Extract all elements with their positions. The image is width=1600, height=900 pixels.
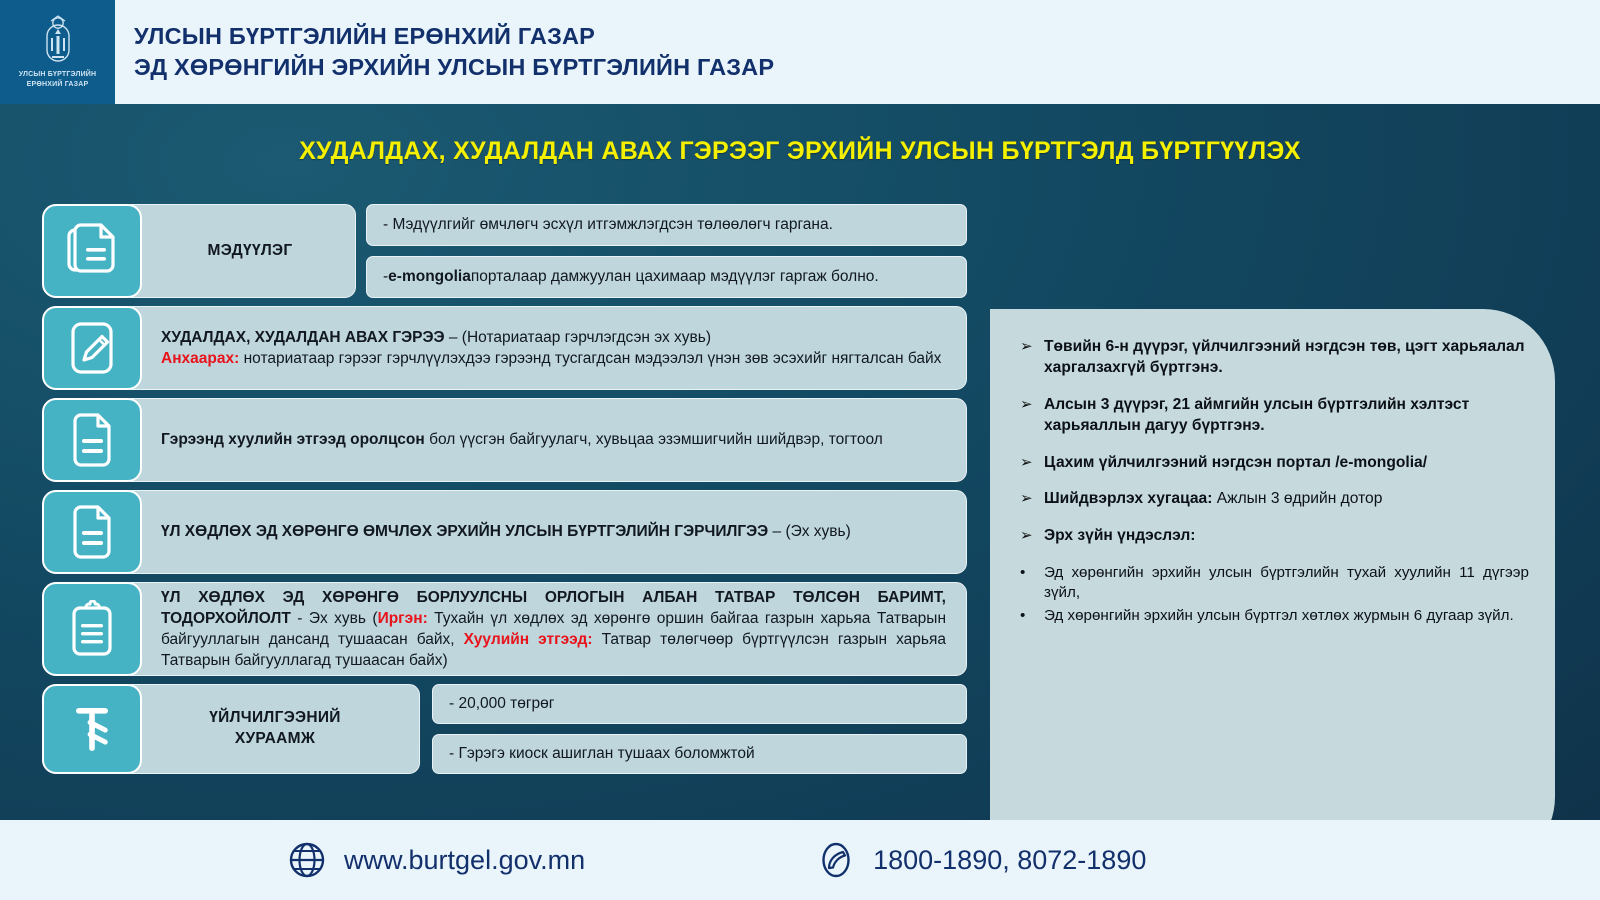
tax-panel: ҮЛ ХӨДЛӨХ ЭД ХӨРӨНГӨ БОРЛУУЛСНЫ ОРЛОГЫН … [130, 582, 967, 676]
certificate-panel: ҮЛ ХӨДЛӨХ ЭД ХӨРӨНГӨ ӨМЧЛӨХ ЭРХИЙН УЛСЫН… [130, 490, 967, 574]
website-link[interactable]: www.burtgel.gov.mn [288, 841, 585, 879]
organization-logo: УЛСЫН БҮРТГЭЛИЙН ЕРӨНХИЙ ГАЗАР [0, 0, 115, 104]
document-pencil-icon [42, 306, 142, 390]
contract-note-label: Анхаарах: [161, 350, 239, 367]
globe-icon [288, 841, 326, 879]
logo-caption-line1: УЛСЫН БҮРТГЭЛИЙН [19, 71, 97, 78]
arrow-bullet-icon: ➢ [1020, 395, 1044, 437]
info-item: ➢ Цахим үйлчилгээний нэгдсэн портал /e-m… [1020, 453, 1529, 474]
tax-citizen-label: Иргэн: [378, 610, 428, 627]
fee-strip-1: - 20,000 төгрөг [432, 684, 967, 724]
declaration-label: МЭДҮҮЛЭГ [145, 242, 355, 260]
info-item-bold: Алсын 3 дүүрэг, 21 аймгийн улсын бүртгэл… [1044, 396, 1469, 434]
info-panel: ➢ Төвийн 6-н дүүрэг, үйлчилгээний нэгдсэ… [990, 309, 1555, 869]
legal-basis-bullet: • Эд хөрөнгийн эрхийн улсын бүртгэлийн т… [1020, 563, 1529, 603]
contract-panel: ХУДАЛДАХ, ХУДАЛДАН АВАХ ГЭРЭЭ – (Нотариа… [130, 306, 967, 390]
declaration-strip-2: - e-mongolia порталаар дамжуулан цахимаа… [366, 256, 967, 298]
page-footer: www.burtgel.gov.mn 1800-1890, 8072-1890 [0, 820, 1600, 900]
legal-basis-bullet: • Эд хөрөнгийн эрхийн улсын бүртгэл хөтл… [1020, 606, 1529, 626]
certificate-rest: – (Эх хувь) [768, 523, 851, 540]
fee-label-panel: ҮЙЛЧИЛГЭЭНИЙ ХУРААМЖ [130, 684, 420, 774]
fee-label: ҮЙЛЧИЛГЭЭНИЙ ХУРААМЖ [131, 708, 419, 750]
dot-bullet-icon: • [1020, 563, 1044, 603]
clipboard-icon [42, 582, 142, 676]
contract-title-bold: ХУДАЛДАХ, ХУДАЛДАН АВАХ ГЭРЭЭ [161, 329, 445, 346]
arrow-bullet-icon: ➢ [1020, 337, 1044, 379]
header-titles: УЛСЫН БҮРТГЭЛИЙН ЕРӨНХИЙ ГАЗАР ЭД ХӨРӨНГ… [115, 0, 1600, 104]
legal-entity-panel: Гэрээнд хуулийн этгээд оролцсон бол үүсг… [130, 398, 967, 482]
header-title-line1: УЛСЫН БҮРТГЭЛИЙН ЕРӨНХИЙ ГАЗАР [134, 21, 1600, 52]
info-item-bold: Төвийн 6-н дүүрэг, үйлчилгээний нэгдсэн … [1044, 338, 1525, 376]
header-title-line2: ЭД ХӨРӨНГИЙН ЭРХИЙН УЛСЫН БҮРТГЭЛИЙН ГАЗ… [134, 52, 1600, 83]
document-lines-icon [42, 490, 142, 574]
info-item-text: Шийдвэрлэх хугацаа: Ажлын 3 өдрийн дотор [1044, 489, 1529, 510]
fee-label-line1: ҮЙЛЧИЛГЭЭНИЙ [209, 709, 340, 726]
infographic-page: УЛСЫН БҮРТГЭЛИЙН ЕРӨНХИЙ ГАЗАР УЛСЫН БҮР… [0, 0, 1600, 900]
fee-strip-2: - Гэрэгэ киоск ашиглан тушаах боломжтой [432, 734, 967, 774]
legal-entity-bold: Гэрээнд хуулийн этгээд оролцсон [161, 431, 425, 448]
arrow-bullet-icon: ➢ [1020, 489, 1044, 510]
phone-text: 1800-1890, 8072-1890 [873, 845, 1146, 876]
contract-note: Анхаарах: нотариатаар гэрээг гэрчлүүлэхд… [161, 348, 941, 369]
fee-strips: - 20,000 төгрөг - Гэрэгэ киоск ашиглан т… [432, 684, 967, 774]
info-item-text: Төвийн 6-н дүүрэг, үйлчилгээний нэгдсэн … [1044, 337, 1529, 379]
row-contract: ХУДАЛДАХ, ХУДАЛДАН АВАХ ГЭРЭЭ – (Нотариа… [42, 306, 967, 390]
legal-entity-rest: бол үүсгэн байгуулагч, хувьцаа эзэмшигчи… [425, 431, 883, 448]
document-lines-icon [42, 398, 142, 482]
info-item-text: Эрх зүйн үндэслэл: [1044, 526, 1529, 547]
contract-note-text: нотариатаар гэрээг гэрчлүүлэхдээ гэрээнд… [239, 350, 941, 367]
tugrik-icon [42, 684, 142, 774]
requirements-list: МЭДҮҮЛЭГ - Мэдүүлгийг өмчлөгч эсхүл итгэ… [42, 204, 967, 782]
declaration-label-panel: МЭДҮҮЛЭГ [130, 204, 356, 298]
info-item-bold: Цахим үйлчилгээний нэгдсэн портал /e-mon… [1044, 454, 1427, 471]
legal-basis-text: Эд хөрөнгийн эрхийн улсын бүртгэл хөтлөх… [1044, 606, 1529, 626]
soyombo-emblem-icon [41, 15, 75, 65]
declaration-strip2-bold: e-mongolia [388, 268, 471, 286]
content-stage: ХУДАЛДАХ, ХУДАЛДАН АВАХ ГЭРЭЭГ ЭРХИЙН УЛ… [0, 104, 1600, 820]
phone-info[interactable]: 1800-1890, 8072-1890 [817, 841, 1146, 879]
logo-caption-line2: ЕРӨНХИЙ ГАЗАР [27, 81, 89, 88]
row-legal-entity: Гэрээнд хуулийн этгээд оролцсон бол үүсг… [42, 398, 967, 482]
website-text: www.burtgel.gov.mn [344, 845, 585, 876]
legal-basis-text: Эд хөрөнгийн эрхийн улсын бүртгэлийн тух… [1044, 563, 1529, 603]
declaration-strip-1: - Мэдүүлгийг өмчлөгч эсхүл итгэмжлэгдсэн… [366, 204, 967, 246]
phone-icon [817, 841, 855, 879]
info-item: ➢ Төвийн 6-н дүүрэг, үйлчилгээний нэгдсэ… [1020, 337, 1529, 379]
tax-entity-label: Хуулийн этгээд: [464, 631, 593, 648]
row-certificate: ҮЛ ХӨДЛӨХ ЭД ХӨРӨНГӨ ӨМЧЛӨХ ЭРХИЙН УЛСЫН… [42, 490, 967, 574]
contract-title: ХУДАЛДАХ, ХУДАЛДАН АВАХ ГЭРЭЭ – (Нотариа… [161, 327, 941, 348]
info-item: ➢ Шийдвэрлэх хугацаа: Ажлын 3 өдрийн дот… [1020, 489, 1529, 510]
logo-caption: УЛСЫН БҮРТГЭЛИЙН ЕРӨНХИЙ ГАЗАР [19, 70, 97, 89]
arrow-bullet-icon: ➢ [1020, 526, 1044, 547]
tax-part1: - Эх хувь ( [291, 610, 378, 627]
fee-label-line2: ХУРААМЖ [235, 730, 315, 747]
info-item-text: Цахим үйлчилгээний нэгдсэн портал /e-mon… [1044, 453, 1529, 474]
info-item: ➢ Эрх зүйн үндэслэл: [1020, 526, 1529, 547]
declaration-strips: - Мэдүүлгийг өмчлөгч эсхүл итгэмжлэгдсэн… [366, 204, 967, 298]
page-title: ХУДАЛДАХ, ХУДАЛДАН АВАХ ГЭРЭЭГ ЭРХИЙН УЛ… [0, 137, 1600, 166]
declaration-strip2-rest: порталаар дамжуулан цахимаар мэдүүлэг га… [471, 268, 879, 286]
arrow-bullet-icon: ➢ [1020, 453, 1044, 474]
info-item-rest: Ажлын 3 өдрийн дотор [1212, 490, 1382, 507]
dot-bullet-icon: • [1020, 606, 1044, 626]
info-item-text: Алсын 3 дүүрэг, 21 аймгийн улсын бүртгэл… [1044, 395, 1529, 437]
row-declaration: МЭДҮҮЛЭГ - Мэдүүлгийг өмчлөгч эсхүл итгэ… [42, 204, 967, 298]
page-header: УЛСЫН БҮРТГЭЛИЙН ЕРӨНХИЙ ГАЗАР УЛСЫН БҮР… [0, 0, 1600, 104]
info-item-bold: Эрх зүйн үндэслэл: [1044, 527, 1195, 544]
info-item: ➢ Алсын 3 дүүрэг, 21 аймгийн улсын бүртг… [1020, 395, 1529, 437]
info-item-bold: Шийдвэрлэх хугацаа: [1044, 490, 1212, 507]
contract-title-rest: – (Нотариатаар гэрчлэгдсэн эх хувь) [445, 329, 711, 346]
certificate-bold: ҮЛ ХӨДЛӨХ ЭД ХӨРӨНГӨ ӨМЧЛӨХ ЭРХИЙН УЛСЫН… [161, 523, 768, 540]
row-service-fee: ҮЙЛЧИЛГЭЭНИЙ ХУРААМЖ - 20,000 төгрөг - Г… [42, 684, 967, 774]
row-tax: ҮЛ ХӨДЛӨХ ЭД ХӨРӨНГӨ БОРЛУУЛСНЫ ОРЛОГЫН … [42, 582, 967, 676]
documents-icon [42, 204, 142, 298]
